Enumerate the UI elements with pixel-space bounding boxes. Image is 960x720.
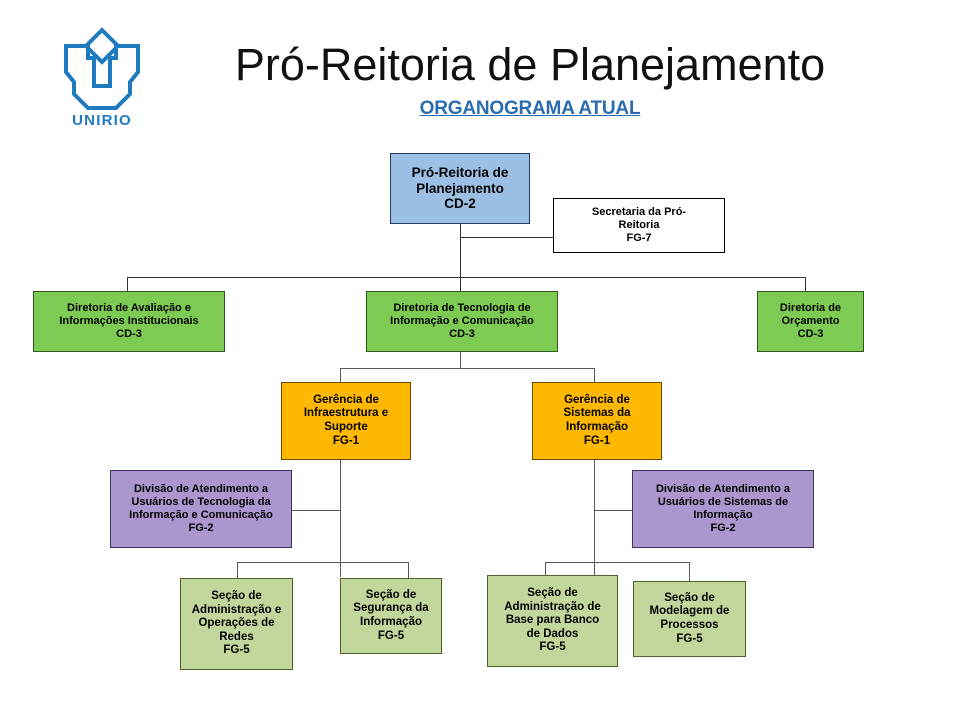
node-line: Administração de xyxy=(492,601,613,615)
node-line: FG-5 xyxy=(185,644,288,658)
node-line: Segurança da xyxy=(345,602,437,616)
node-line: FG-7 xyxy=(558,232,720,245)
node-line: Usuários de Sistemas de xyxy=(637,496,809,509)
page-title: Pró-Reitoria de Planejamento xyxy=(180,38,880,92)
node-line: Divisão de Atendimento a xyxy=(637,483,809,496)
node-line: Orçamento xyxy=(762,315,859,328)
connector-gerencia-bus xyxy=(340,368,594,369)
connector-drop-dir-aval xyxy=(127,277,128,291)
node-line: FG-2 xyxy=(637,522,809,535)
connector-drop-sec-proc xyxy=(689,562,690,581)
connector-secao-bus-left xyxy=(237,562,408,563)
connector-drop-dir-tic xyxy=(460,277,461,291)
node-line: Modelagem de xyxy=(638,605,741,619)
node-line: FG-1 xyxy=(286,435,406,449)
logo-wordmark: UNIRIO xyxy=(44,112,160,129)
node-line: Diretoria de Avaliação e xyxy=(38,302,220,315)
connector-drop-sec-redes xyxy=(237,562,238,578)
connector-root-stem xyxy=(460,224,461,277)
node-line: Gerência de xyxy=(537,394,657,408)
node-line: Sistemas da xyxy=(537,407,657,421)
node-secao-modelagem-processos[interactable]: Seção de Modelagem de Processos FG-5 xyxy=(633,581,746,657)
node-gerencia-infraestrutura-suporte[interactable]: Gerência de Infraestrutura e Suporte FG-… xyxy=(281,382,411,460)
node-line: FG-5 xyxy=(492,641,613,655)
node-secao-seguranca-informacao[interactable]: Seção de Segurança da Informação FG-5 xyxy=(340,578,442,654)
node-gerencia-sistemas-informacao[interactable]: Gerência de Sistemas da Informação FG-1 xyxy=(532,382,662,460)
node-line: Seção de xyxy=(185,590,288,604)
node-line: CD-2 xyxy=(395,196,525,212)
node-line: Divisão de Atendimento a xyxy=(115,483,287,496)
unirio-shield-icon xyxy=(44,24,160,116)
organogram-canvas: UNIRIO Pró-Reitoria de Planejamento ORGA… xyxy=(0,0,960,720)
node-line: Informação xyxy=(537,421,657,435)
node-line: Planejamento xyxy=(395,181,525,197)
node-line: Diretoria de Tecnologia de xyxy=(371,302,553,315)
node-line: Informação xyxy=(345,616,437,630)
node-secao-administracao-banco-dados[interactable]: Seção de Administração de Base para Banc… xyxy=(487,575,618,667)
node-line: Seção de xyxy=(638,592,741,606)
node-line: Redes xyxy=(185,631,288,645)
connector-ger-sist-stem xyxy=(594,460,595,577)
connector-root-secretaria xyxy=(460,237,553,238)
node-line: CD-3 xyxy=(371,328,553,341)
connector-ger-infra-divisao xyxy=(290,510,340,511)
node-line: CD-3 xyxy=(762,328,859,341)
node-line: Secretaria da Pró- xyxy=(558,206,720,219)
connector-drop-sec-seg xyxy=(408,562,409,578)
connector-ger-infra-stem xyxy=(340,460,341,577)
connector-drop-sec-bd xyxy=(545,562,546,575)
node-line: Reitoria xyxy=(558,219,720,232)
connector-drop-ger-sist xyxy=(594,368,595,382)
node-line: Seção de xyxy=(492,587,613,601)
node-divisao-atendimento-sistemas[interactable]: Divisão de Atendimento a Usuários de Sis… xyxy=(632,470,814,548)
node-pro-reitoria-planejamento[interactable]: Pró-Reitoria de Planejamento CD-2 xyxy=(390,153,530,224)
node-diretoria-tecnologia-informacao[interactable]: Diretoria de Tecnologia de Informação e … xyxy=(366,291,558,352)
node-line: Operações de xyxy=(185,617,288,631)
node-line: Pró-Reitoria de xyxy=(395,165,525,181)
node-line: Base para Banco xyxy=(492,614,613,628)
connector-drop-ger-infra xyxy=(340,368,341,382)
node-line: Informação xyxy=(637,509,809,522)
connector-dtic-stem xyxy=(460,352,461,369)
node-line: Administração e xyxy=(185,604,288,618)
node-divisao-atendimento-tecnologia[interactable]: Divisão de Atendimento a Usuários de Tec… xyxy=(110,470,292,548)
node-line: FG-1 xyxy=(537,435,657,449)
node-line: FG-5 xyxy=(345,630,437,644)
node-line: Processos xyxy=(638,619,741,633)
node-diretoria-avaliacao[interactable]: Diretoria de Avaliação e Informações Ins… xyxy=(33,291,225,352)
node-line: de Dados xyxy=(492,628,613,642)
node-line: Diretoria de xyxy=(762,302,859,315)
node-line: Informação e Comunicação xyxy=(371,315,553,328)
node-line: Informações Institucionais xyxy=(38,315,220,328)
node-line: Gerência de xyxy=(286,394,406,408)
node-line: FG-2 xyxy=(115,522,287,535)
node-diretoria-orcamento[interactable]: Diretoria de Orçamento CD-3 xyxy=(757,291,864,352)
node-line: FG-5 xyxy=(638,633,741,647)
node-line: Usuários de Tecnologia da xyxy=(115,496,287,509)
connector-secao-bus-right xyxy=(545,562,689,563)
node-line: Infraestrutura e xyxy=(286,407,406,421)
node-line: Seção de xyxy=(345,589,437,603)
connector-level2-bus xyxy=(127,277,806,278)
page-subtitle: ORGANOGRAMA ATUAL xyxy=(180,98,880,120)
node-line: CD-3 xyxy=(38,328,220,341)
node-line: Informação e Comunicação xyxy=(115,509,287,522)
node-secao-administracao-operacoes-redes[interactable]: Seção de Administração e Operações de Re… xyxy=(180,578,293,670)
node-line: Suporte xyxy=(286,421,406,435)
node-secretaria-pro-reitoria[interactable]: Secretaria da Pró- Reitoria FG-7 xyxy=(553,198,725,253)
unirio-logo: UNIRIO xyxy=(44,24,160,136)
connector-drop-dir-orc xyxy=(805,277,806,291)
